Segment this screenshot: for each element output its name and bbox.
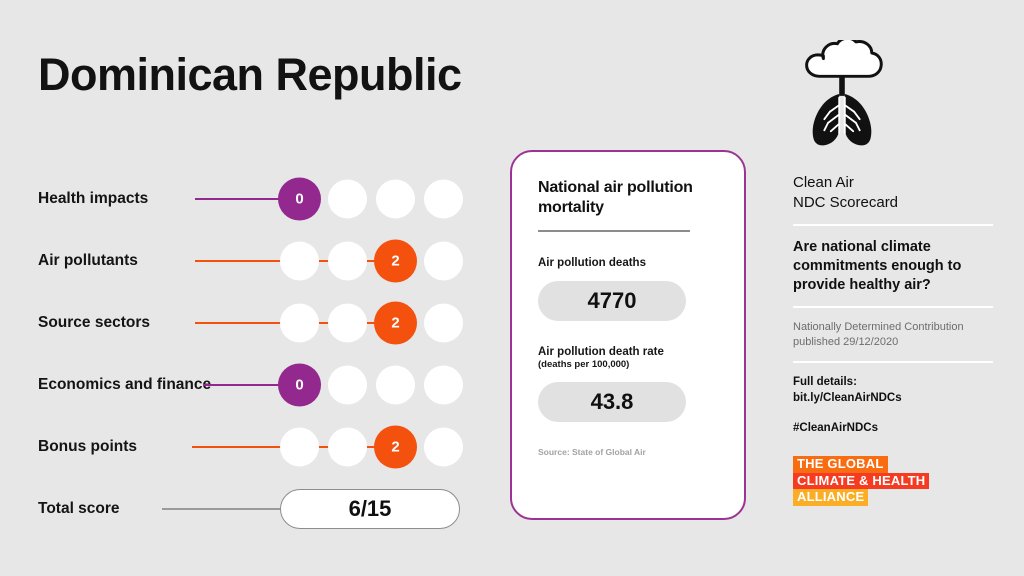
total-score-pill: 6/15: [280, 489, 460, 529]
score-dot-empty[interactable]: [424, 366, 463, 405]
brand-line-1: Clean Air: [793, 173, 993, 193]
logo-line-3: ALLIANCE: [793, 489, 868, 506]
scorecard-panel: Health impacts0Air pollutants2Source sec…: [38, 168, 468, 540]
gcha-logo: THE GLOBAL CLIMATE & HEALTH ALLIANCE: [793, 456, 929, 506]
card-title-divider: [538, 230, 690, 232]
panel-divider-bottom: [793, 361, 993, 363]
score-dot-empty[interactable]: [376, 180, 415, 219]
score-dot-empty[interactable]: [328, 366, 367, 405]
death-rate-label: Air pollution death rate: [538, 346, 718, 358]
ndc-published-note: Nationally Determined Contribution publi…: [793, 320, 993, 350]
deaths-label: Air pollution deaths: [538, 257, 718, 269]
brand-title: Clean Air NDC Scorecard: [793, 173, 993, 213]
panel-question: Are national climate commitments enough …: [793, 238, 993, 295]
score-dot-group: 0: [280, 180, 463, 219]
score-dot-filled[interactable]: 2: [374, 426, 417, 469]
score-dot-group: 2: [280, 304, 463, 343]
score-row-label: Health impacts: [38, 190, 148, 208]
score-dot-empty[interactable]: [424, 304, 463, 343]
mortality-card-title: National air pollution mortality: [538, 178, 718, 219]
score-dot-empty[interactable]: [424, 428, 463, 467]
score-dot-group: 0: [280, 366, 463, 405]
score-dot-empty[interactable]: [424, 180, 463, 219]
score-dot-filled[interactable]: 0: [278, 364, 321, 407]
score-row-label: Source sectors: [38, 314, 150, 332]
mortality-card: National air pollution mortality Air pol…: [510, 150, 746, 520]
score-dot-empty[interactable]: [328, 242, 367, 281]
score-dot-group: 2: [280, 242, 463, 281]
deaths-value-pill: 4770: [538, 281, 686, 321]
full-details-block: Full details: bit.ly/CleanAirNDCs: [793, 375, 993, 407]
panel-divider-middle: [793, 306, 993, 308]
score-row: Economics and finance0: [38, 354, 468, 416]
logo-line-2: CLIMATE & HEALTH: [793, 473, 929, 490]
score-dot-empty[interactable]: [328, 428, 367, 467]
total-connector-line: [162, 508, 287, 510]
page-title: Dominican Republic: [38, 52, 462, 97]
score-row: Health impacts0: [38, 168, 468, 230]
score-dot-filled[interactable]: 2: [374, 302, 417, 345]
score-row: Air pollutants2: [38, 230, 468, 292]
right-panel: Clean Air NDC Scorecard Are national cli…: [793, 40, 993, 511]
logo-line-1: THE GLOBAL: [793, 456, 888, 473]
panel-divider-top: [793, 224, 993, 226]
score-row-label: Air pollutants: [38, 252, 138, 270]
death-rate-sublabel: (deaths per 100,000): [538, 359, 718, 370]
score-dot-empty[interactable]: [376, 366, 415, 405]
score-row-label: Bonus points: [38, 438, 137, 456]
brand-line-2: NDC Scorecard: [793, 193, 993, 213]
score-dot-empty[interactable]: [280, 428, 319, 467]
score-row-label: Economics and finance: [38, 376, 211, 394]
full-details-url[interactable]: bit.ly/CleanAirNDCs: [793, 391, 993, 407]
score-row: Source sectors2: [38, 292, 468, 354]
score-dot-empty[interactable]: [328, 304, 367, 343]
full-details-label: Full details:: [793, 375, 993, 391]
death-rate-value-pill: 43.8: [538, 382, 686, 422]
score-dot-empty[interactable]: [424, 242, 463, 281]
card-source-note: Source: State of Global Air: [538, 447, 718, 457]
total-score-row: Total score6/15: [38, 478, 468, 540]
score-dot-empty[interactable]: [280, 242, 319, 281]
score-row: Bonus points2: [38, 416, 468, 478]
score-dot-empty[interactable]: [280, 304, 319, 343]
score-dot-group: 2: [280, 428, 463, 467]
score-dot-filled[interactable]: 2: [374, 240, 417, 283]
score-dot-empty[interactable]: [328, 180, 367, 219]
hashtag: #CleanAirNDCs: [793, 422, 993, 434]
lungs-cloud-icon: [795, 40, 889, 148]
total-score-label: Total score: [38, 500, 120, 518]
score-dot-filled[interactable]: 0: [278, 178, 321, 221]
